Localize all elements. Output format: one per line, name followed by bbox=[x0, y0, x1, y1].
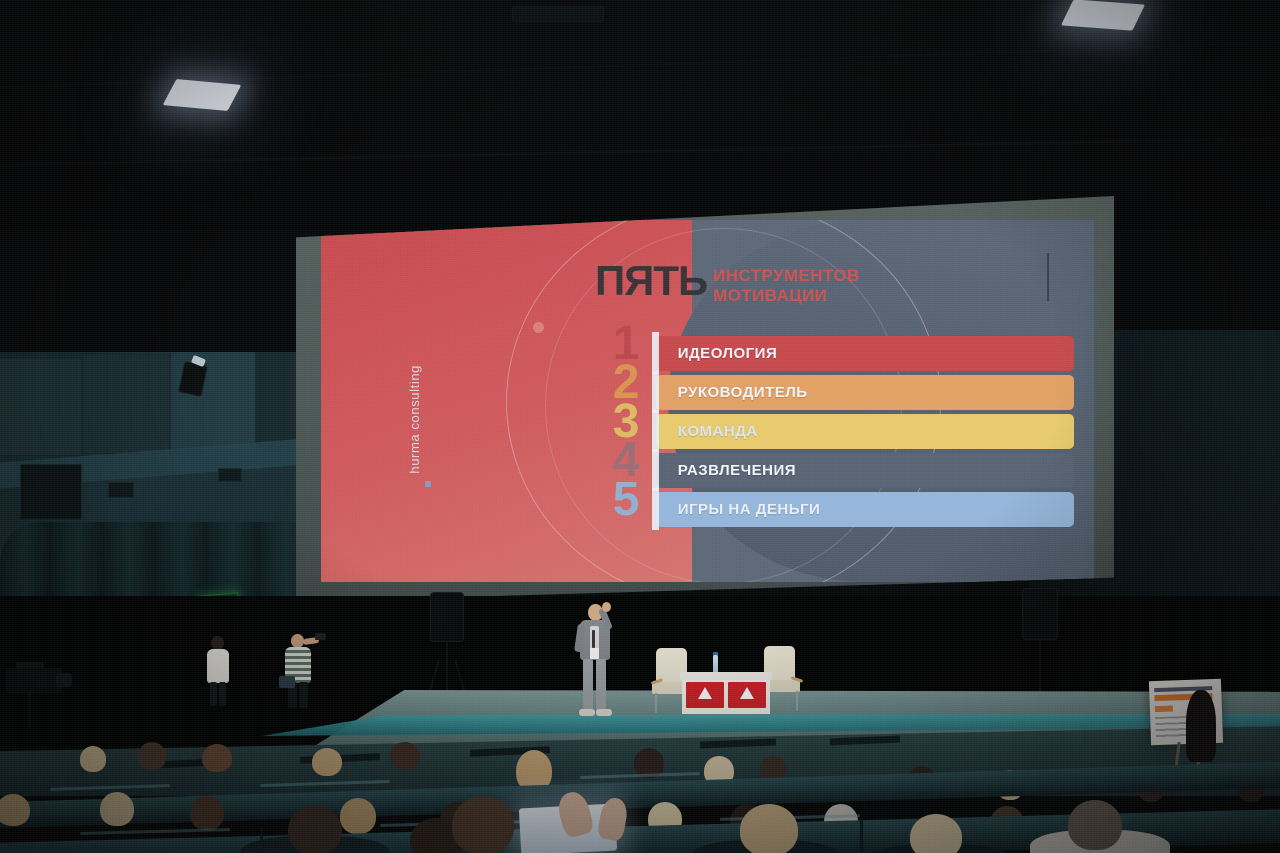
slide-item-label: ИДЕОЛОГИЯ bbox=[678, 345, 778, 362]
presenter-hand bbox=[602, 602, 611, 612]
person-leg bbox=[299, 682, 308, 708]
phone-camera bbox=[315, 633, 326, 640]
seat-divider bbox=[860, 818, 863, 852]
triangle-logo-icon bbox=[698, 687, 712, 699]
slide-title-emphasis: ПЯТЬ bbox=[595, 262, 707, 301]
pa-speaker bbox=[1022, 588, 1058, 640]
slide-accent-dot bbox=[533, 322, 544, 333]
table-top bbox=[680, 672, 772, 680]
camera-tripod bbox=[28, 694, 31, 728]
slide-list-item: 2 РУКОВОДИТЕЛЬ bbox=[630, 375, 1075, 410]
slide-item-label: РАЗВЛЕЧЕНИЯ bbox=[678, 462, 796, 479]
presenter-badge bbox=[590, 648, 599, 659]
spotlight-body bbox=[178, 361, 208, 397]
presenter-microphone bbox=[592, 630, 595, 648]
audience-head bbox=[80, 746, 106, 772]
slide-item-label: РУКОВОДИТЕЛЬ bbox=[678, 384, 808, 401]
slide-item-label: ИГРЫ НА ДЕНЬГИ bbox=[678, 501, 821, 518]
audience-head bbox=[390, 742, 420, 770]
slide-item-label: КОМАНДА bbox=[678, 423, 758, 440]
presenter-shoe bbox=[579, 709, 595, 716]
projection-screen: hurma consulting ПЯТЬ ИНСТРУМЕНТОВ МОТИВ… bbox=[296, 196, 1114, 602]
slide-item-tick bbox=[652, 410, 659, 452]
audience-head bbox=[910, 814, 962, 853]
audience-head bbox=[740, 804, 798, 853]
seat-highlight bbox=[50, 784, 170, 791]
ceiling-vent bbox=[512, 6, 604, 22]
crew-photographer bbox=[283, 634, 313, 708]
audience-head bbox=[0, 794, 30, 826]
speaker-stand bbox=[1039, 638, 1041, 694]
pa-speaker bbox=[430, 592, 464, 642]
slide-title-line-2: МОТИВАЦИИ bbox=[713, 286, 859, 306]
wall-grille bbox=[218, 468, 242, 482]
audience-head bbox=[312, 748, 342, 776]
ceiling bbox=[0, 0, 1280, 230]
table-front bbox=[682, 680, 770, 714]
slide-title-line-1: ИНСТРУМЕНТОВ bbox=[713, 266, 859, 286]
slide-item-list: 1 ИДЕОЛОГИЯ 2 РУКОВОДИТЕЛЬ 3 bbox=[630, 336, 1075, 527]
slide-item-number: 5 bbox=[613, 476, 640, 524]
slide-title: ПЯТЬ ИНСТРУМЕНТОВ МОТИВАЦИИ bbox=[595, 262, 860, 306]
slide-list-item: 4 РАЗВЛЕЧЕНИЯ bbox=[630, 453, 1075, 488]
presenter-leg bbox=[583, 659, 593, 711]
wall-recess bbox=[20, 464, 82, 520]
person-head bbox=[211, 636, 224, 650]
acoustic-panel bbox=[82, 354, 170, 454]
camera-lens-icon bbox=[56, 673, 72, 687]
slide-list-item: 1 ИДЕОЛОГИЯ bbox=[630, 336, 1075, 371]
audience-head bbox=[202, 744, 232, 772]
speaker-stand bbox=[446, 640, 448, 698]
seat-highlight bbox=[80, 828, 230, 835]
presentation-slide: hurma consulting ПЯТЬ ИНСТРУМЕНТОВ МОТИВ… bbox=[321, 220, 1094, 581]
slide-title-lines: ИНСТРУМЕНТОВ МОТИВАЦИИ bbox=[713, 262, 859, 306]
seat-highlight bbox=[580, 772, 700, 779]
camera-body bbox=[6, 668, 62, 694]
poster-chip bbox=[1155, 705, 1173, 712]
audience-head bbox=[138, 742, 166, 770]
stage-spotlight bbox=[175, 355, 209, 401]
seat-highlight bbox=[260, 780, 390, 787]
table-brand-panel bbox=[728, 682, 766, 708]
ceiling-light bbox=[163, 79, 242, 111]
video-camera bbox=[0, 660, 90, 730]
ceiling-light bbox=[1061, 0, 1145, 31]
presenter bbox=[572, 604, 616, 722]
slide-list-item: 3 КОМАНДА bbox=[630, 414, 1075, 449]
stage-table bbox=[680, 672, 772, 718]
person-torso bbox=[207, 649, 229, 683]
crew-person bbox=[205, 636, 231, 706]
slide-item-tick bbox=[652, 371, 659, 413]
slide-list-item: 5 ИГРЫ НА ДЕНЬГИ bbox=[630, 492, 1075, 527]
acoustic-panel bbox=[0, 358, 82, 456]
auditorium-scene: hurma consulting ПЯТЬ ИНСТРУМЕНТОВ МОТИВ… bbox=[0, 0, 1280, 853]
audience-head bbox=[1068, 800, 1122, 850]
person-leg bbox=[219, 682, 226, 706]
audience-head bbox=[288, 806, 342, 853]
triangle-logo-icon bbox=[740, 687, 754, 699]
person-leg bbox=[210, 682, 217, 706]
slide-tick-mark bbox=[1047, 253, 1049, 301]
slide-item-tick bbox=[652, 449, 659, 491]
laptop bbox=[279, 676, 295, 688]
chair-leg bbox=[796, 691, 798, 711]
audience-head bbox=[452, 796, 514, 853]
presenter-leg bbox=[596, 659, 606, 711]
slide-accent-square bbox=[425, 481, 431, 487]
audience-head bbox=[340, 798, 376, 834]
slide-item-tick bbox=[652, 488, 659, 530]
slide-item-tick bbox=[652, 332, 659, 374]
slide-watermark: hurma consulting bbox=[407, 365, 422, 474]
table-brand-panel bbox=[686, 682, 724, 708]
audience-head bbox=[100, 792, 134, 826]
wall-grille bbox=[108, 482, 134, 498]
chair-leg bbox=[655, 693, 657, 713]
presenter-shoe bbox=[596, 709, 612, 716]
audience-head bbox=[190, 796, 224, 830]
